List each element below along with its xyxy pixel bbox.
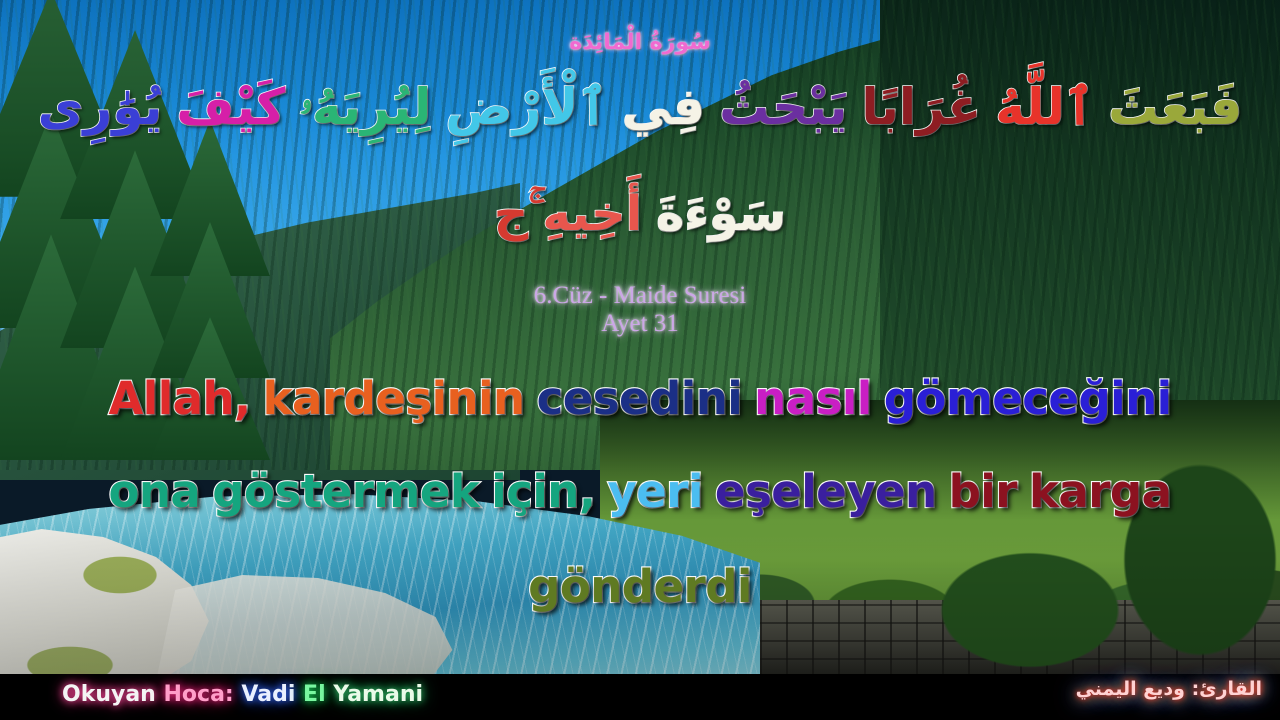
reciter-label-word-1: Okuyan xyxy=(62,682,156,707)
translation-line-1: Allah,kardeşinincesedininasılgömeceğini xyxy=(0,372,1280,425)
reference-line-2: Ayet 31 xyxy=(0,310,1280,338)
word: eşeleyen xyxy=(715,465,937,518)
ayah-line-2: سَوْءَةَأَخِيهِۚج xyxy=(0,190,1280,238)
word: فِي xyxy=(622,82,705,132)
word: karga xyxy=(1029,465,1172,518)
word: ona xyxy=(108,465,200,518)
word: kardeşinin xyxy=(263,372,525,425)
word: gönderdi xyxy=(528,560,752,613)
word: Allah, xyxy=(108,372,250,425)
reciter-name-word-3: Yamani xyxy=(333,682,423,707)
word: ۚج xyxy=(494,190,529,238)
word: غُرَابًا xyxy=(861,82,981,132)
reciter-label-word-2: Hoca: xyxy=(164,682,234,707)
word: nasıl xyxy=(754,372,872,425)
word: göstermek xyxy=(212,465,479,518)
reference-line-1: 6.Cüz - Maide Suresi xyxy=(0,282,1280,310)
word: yeri xyxy=(607,465,702,518)
word: bir xyxy=(949,465,1017,518)
word: يُوَٰرِى xyxy=(38,82,163,132)
ayah-line-1: فَبَعَثَٱللَّهُغُرَابًايَبْحَثُفِيٱلْأَر… xyxy=(0,82,1280,132)
word: أَخِيهِ xyxy=(542,190,642,238)
reciter-credit-arabic: القارئ: وديع اليمني xyxy=(1076,678,1262,700)
surah-title: سُورَةُ الْمَائِدَة xyxy=(0,30,1280,55)
reciter-credit-latin: Okuyan Hoca: Vadi El Yamani xyxy=(62,682,423,707)
word: لِيُرِيَهُۥ xyxy=(299,82,431,132)
bottom-credit-bar: Okuyan Hoca: Vadi El Yamani القارئ: وديع… xyxy=(0,674,1280,720)
word: için, xyxy=(491,465,595,518)
video-player-frame: سُورَةُ الْمَائِدَة فَبَعَثَٱللَّهُغُرَا… xyxy=(0,0,1280,720)
ayah-reference: 6.Cüz - Maide Suresi Ayet 31 xyxy=(0,282,1280,338)
word: ٱللَّهُ xyxy=(995,82,1094,132)
word: سَوْءَةَ xyxy=(656,190,786,238)
word: gömeceğini xyxy=(884,372,1172,425)
translation-line-3: gönderdi xyxy=(0,560,1280,613)
reciter-name-word-1: Vadi xyxy=(241,682,295,707)
word: cesedini xyxy=(537,372,743,425)
translation-line-2: onagöstermekiçin,yerieşeleyenbirkarga xyxy=(0,465,1280,518)
subtitle-overlay: سُورَةُ الْمَائِدَة فَبَعَثَٱللَّهُغُرَا… xyxy=(0,0,1280,720)
word: ٱلْأَرْضِ xyxy=(445,82,608,132)
word: يَبْحَثُ xyxy=(719,82,847,132)
word: فَبَعَثَ xyxy=(1108,82,1242,132)
word: كَيْفَ xyxy=(176,82,285,132)
reciter-name-word-2: El xyxy=(303,682,326,707)
